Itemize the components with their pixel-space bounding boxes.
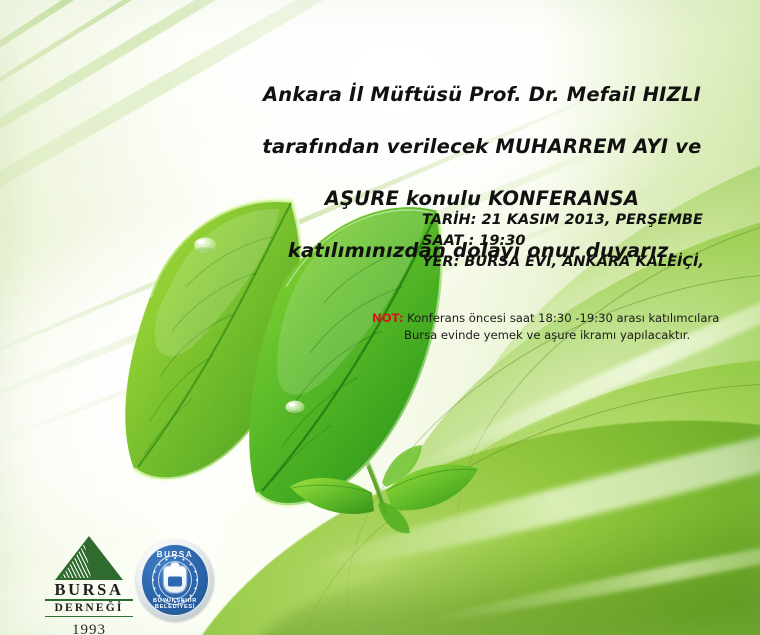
logo-year: 1993	[40, 622, 138, 635]
event-details: TARİH: 21 KASIM 2013, PERŞEMBE SAAT : 19…	[422, 210, 752, 273]
logo-name-top: BURSA	[40, 581, 138, 598]
headline-line-1: Ankara İl Müftüsü Prof. Dr. Mefail HIZLI	[222, 82, 742, 108]
mountain-triangle-icon	[43, 536, 135, 580]
water-droplet-icon	[286, 401, 305, 415]
headline-line-3: AŞURE konulu KONFERANSA	[222, 186, 742, 212]
logo-divider-top	[45, 599, 133, 601]
invitation-poster: Ankara İl Müftüsü Prof. Dr. Mefail HIZLI…	[0, 0, 760, 635]
city-seal-icon: BURSA BÜYÜKŞEHİR BELEDİYESİ	[136, 539, 214, 621]
logo-bursa-dernegi: BURSA DERNEĞİ 1993	[40, 536, 138, 628]
seal-castle-emblem	[164, 566, 186, 592]
seal-bottom-text: BÜYÜKŞEHİR BELEDİYESİ	[142, 598, 208, 610]
note-block: NOT: Konferans öncesi saat 18:30 -19:30 …	[372, 310, 750, 343]
logo-bursa-belediye: BURSA BÜYÜKŞEHİR BELEDİYESİ	[136, 539, 214, 621]
seal-top-text: BURSA	[142, 550, 208, 559]
seal-body: BURSA BÜYÜKŞEHİR BELEDİYESİ	[141, 544, 209, 616]
water-droplet-icon	[194, 238, 216, 253]
logo-divider-bottom	[45, 616, 133, 617]
event-date-line: TARİH: 21 KASIM 2013, PERŞEMBE	[422, 210, 752, 231]
event-venue-line: YER: BURSA EVİ, ANKARA KALEİÇİ,	[422, 252, 752, 273]
event-time-line: SAAT : 19:30	[422, 231, 752, 252]
headline-line-2: tarafından verilecek MUHARREM AYI ve	[222, 134, 742, 160]
note-label: NOT	[372, 311, 399, 325]
logo-name-bottom: DERNEĞİ	[40, 602, 138, 615]
note-line-1: Konferans öncesi saat 18:30 -19:30 arası…	[403, 311, 719, 325]
note-line-2: Bursa evinde yemek ve aşure ikramı yapıl…	[372, 327, 750, 344]
